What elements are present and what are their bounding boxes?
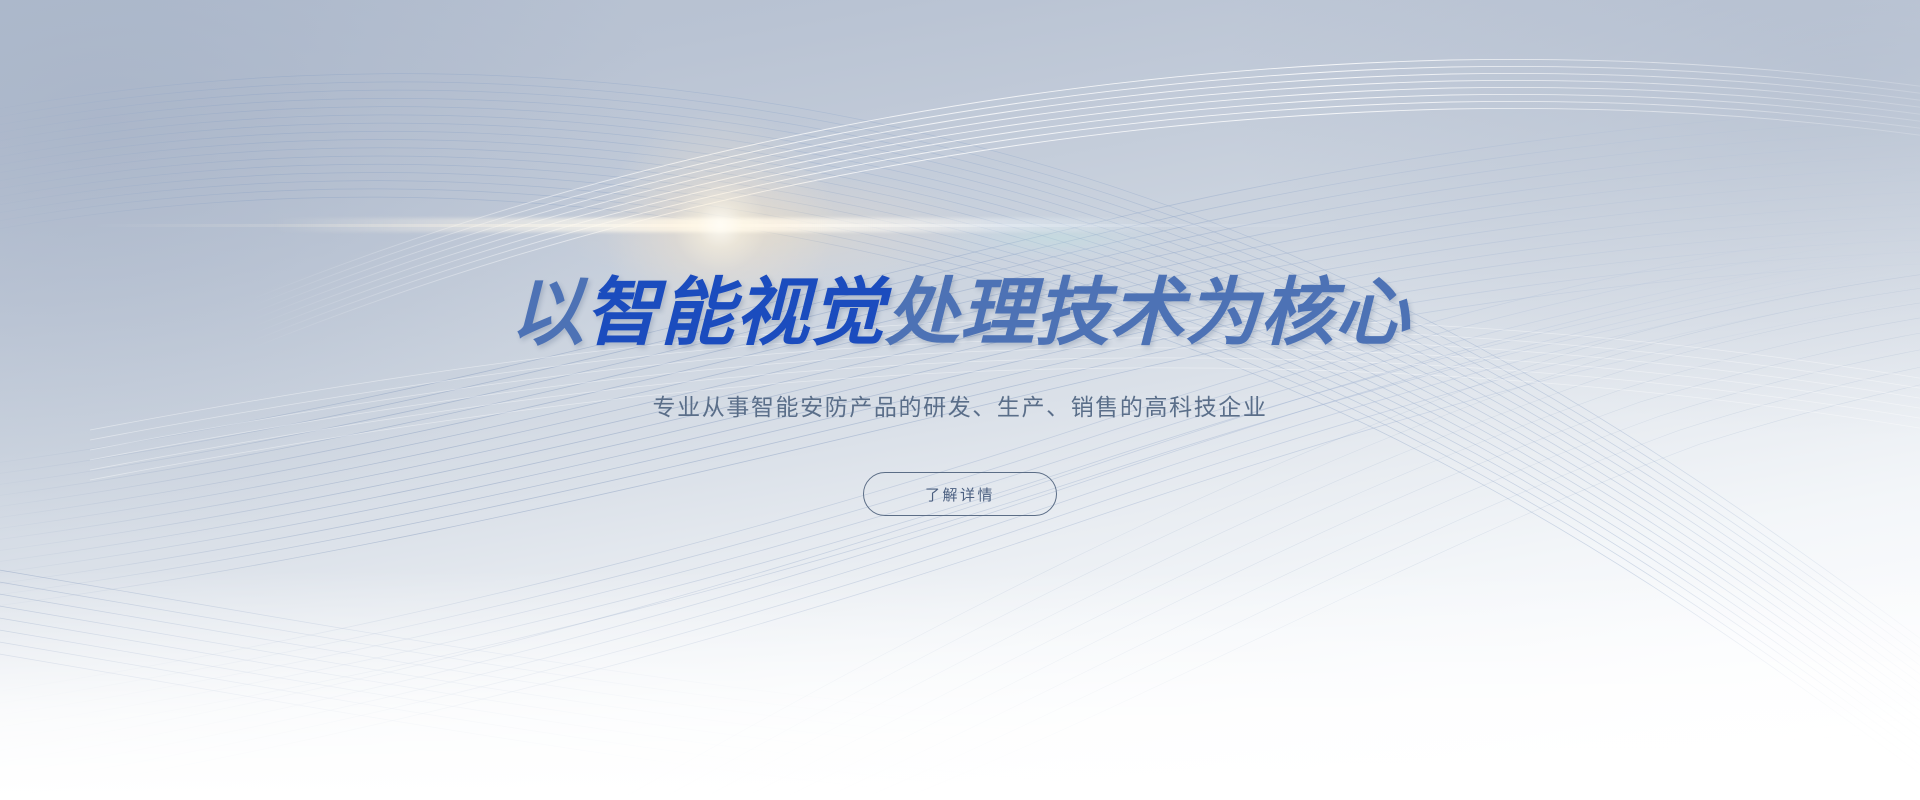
cta-container: 了解详情 <box>863 472 1057 516</box>
headline-segment-3: 处理技术为核心 <box>885 270 1410 356</box>
hero-content: 以智能视觉处理技术为核心 专业从事智能安防产品的研发、生产、销售的高科技企业 了… <box>0 0 1920 800</box>
page-subtitle: 专业从事智能安防产品的研发、生产、销售的高科技企业 <box>653 388 1268 422</box>
learn-more-button[interactable]: 了解详情 <box>863 472 1057 516</box>
headline-segment-1: 以 <box>510 270 585 356</box>
hero-banner: 以智能视觉处理技术为核心 专业从事智能安防产品的研发、生产、销售的高科技企业 了… <box>0 0 1920 800</box>
page-title: 以智能视觉处理技术为核心 <box>510 276 1410 350</box>
headline-segment-2-accent: 智能视觉 <box>585 270 885 356</box>
